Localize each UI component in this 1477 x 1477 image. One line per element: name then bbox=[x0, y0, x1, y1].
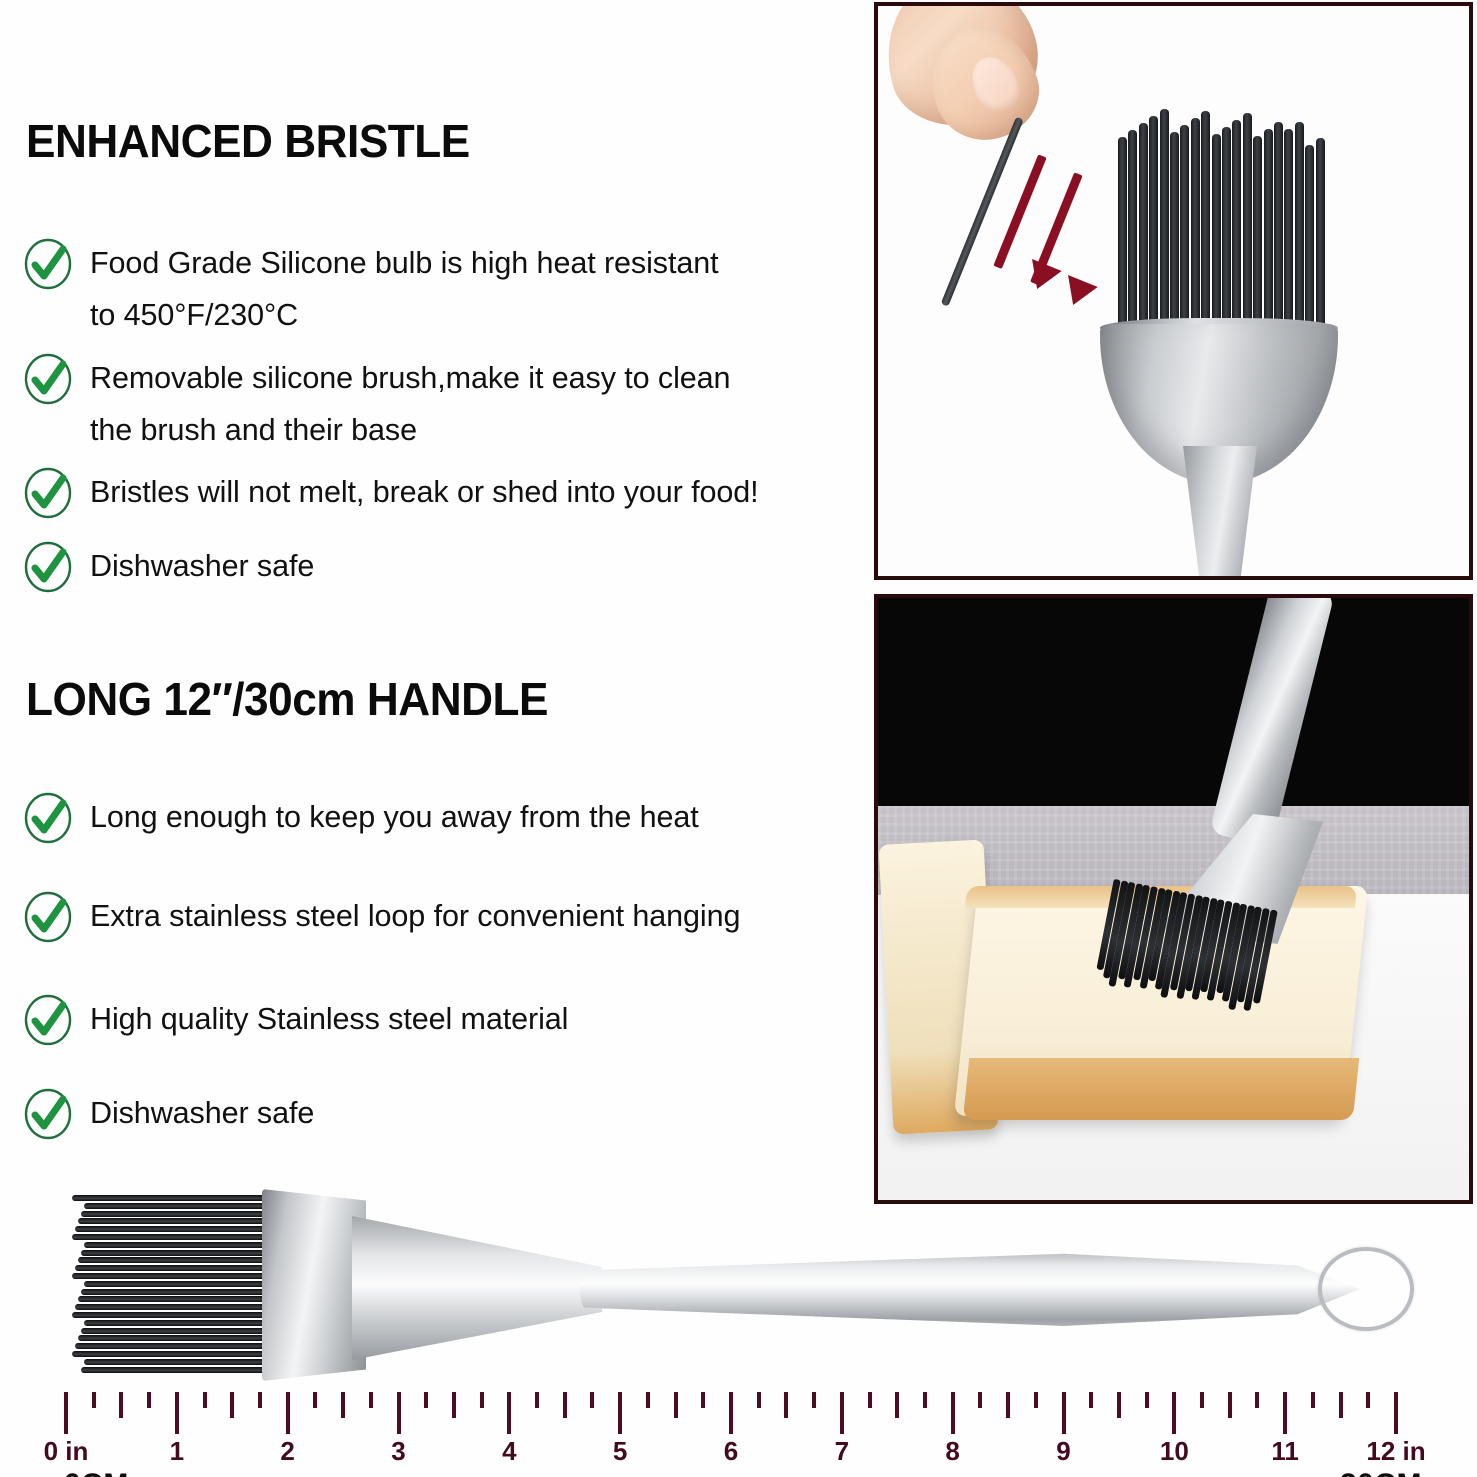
ruler-tick-minor bbox=[1145, 1392, 1149, 1408]
ruler-tick-minor bbox=[341, 1392, 345, 1418]
ruler-tick-minor bbox=[452, 1392, 456, 1418]
ruler-inch-label: 1 bbox=[170, 1436, 184, 1467]
feature-bullet-text: Removable silicone brush,make it easy to… bbox=[90, 352, 730, 456]
bristle bbox=[75, 1304, 268, 1310]
bristle bbox=[1232, 120, 1241, 351]
bristle bbox=[1191, 118, 1200, 351]
bristle bbox=[1243, 113, 1252, 351]
pulled-bristle bbox=[941, 117, 1024, 307]
ruler-tick-minor bbox=[1117, 1392, 1121, 1418]
ruler-tick-minor bbox=[369, 1392, 373, 1408]
ruler-tick-major bbox=[618, 1392, 622, 1434]
ruler-inch-label: 5 bbox=[613, 1436, 627, 1467]
ruler-tick-major bbox=[1394, 1392, 1398, 1434]
ruler-tick-major bbox=[64, 1392, 68, 1434]
full-brush-photo bbox=[0, 1185, 1477, 1390]
bristle bbox=[84, 1203, 268, 1209]
bristle bbox=[1128, 130, 1137, 351]
bristle bbox=[75, 1265, 268, 1271]
ruler-inch-label: 10 bbox=[1160, 1436, 1189, 1467]
feature-bullet-text: Food Grade Silicone bulb is high heat re… bbox=[90, 237, 719, 341]
bristle bbox=[84, 1242, 268, 1248]
bristle bbox=[1295, 122, 1304, 351]
bristle bbox=[72, 1273, 268, 1279]
feature-bullet: Removable silicone brush,make it easy to… bbox=[22, 352, 740, 456]
photo-scene bbox=[878, 6, 1469, 576]
feature-bullet: High quality Stainless steel material bbox=[22, 993, 576, 1046]
product-ferrule bbox=[262, 1189, 366, 1381]
ruler-tick-minor bbox=[646, 1392, 650, 1408]
ruler-tick-minor bbox=[1366, 1392, 1370, 1408]
feature-bullet: Dishwasher safe bbox=[22, 1087, 318, 1140]
ruler-tick-minor bbox=[701, 1392, 705, 1408]
bristle bbox=[81, 1367, 268, 1373]
ruler-inch-label: 7 bbox=[835, 1436, 849, 1467]
ruler-inch-label: 3 bbox=[391, 1436, 405, 1467]
bristle bbox=[81, 1289, 268, 1295]
bristle-removal-photo bbox=[874, 2, 1473, 580]
bristle bbox=[81, 1250, 268, 1256]
ruler-tick-minor bbox=[1200, 1392, 1204, 1408]
ruler-inch-label: 2 bbox=[280, 1436, 294, 1467]
bristle bbox=[75, 1226, 268, 1232]
product-bristles bbox=[72, 1195, 268, 1375]
feature-bullet: Bristles will not melt, break or shed in… bbox=[22, 466, 769, 519]
ruler-inch-label: 4 bbox=[502, 1436, 516, 1467]
ruler-inch-label: 8 bbox=[945, 1436, 959, 1467]
ruler-cm-end-label: 30CM bbox=[1340, 1468, 1422, 1477]
bristle bbox=[72, 1195, 268, 1201]
check-circle-icon bbox=[22, 792, 74, 844]
ruler-tick-minor bbox=[1339, 1392, 1343, 1418]
ruler-inch-label: 11 bbox=[1271, 1436, 1299, 1467]
ruler-tick-minor bbox=[1311, 1392, 1315, 1408]
bristle bbox=[1149, 116, 1158, 351]
ruler-cm-start-label: 0CM bbox=[64, 1468, 129, 1477]
ruler-tick-minor bbox=[258, 1392, 262, 1408]
check-circle-icon bbox=[22, 891, 74, 943]
direction-arrow-head-icon bbox=[1058, 275, 1097, 311]
buttering-bread-photo bbox=[874, 594, 1473, 1204]
bristle bbox=[81, 1328, 268, 1334]
ruler-tick-major bbox=[175, 1392, 179, 1434]
ruler-tick-major bbox=[1062, 1392, 1066, 1434]
ruler-tick-minor bbox=[313, 1392, 317, 1408]
feature-bullet-text: Long enough to keep you away from the he… bbox=[90, 791, 699, 843]
product-infographic: ENHANCED BRISTLE Food Grade Silicone bul… bbox=[0, 0, 1477, 1477]
ruler-tick-minor bbox=[923, 1392, 927, 1408]
steel-stem bbox=[1178, 446, 1262, 580]
ruler-inch-label: 9 bbox=[1056, 1436, 1070, 1467]
ruler-tick-minor bbox=[978, 1392, 982, 1408]
ruler-tick-major bbox=[1283, 1392, 1287, 1434]
bristle bbox=[1274, 122, 1283, 351]
bristle bbox=[72, 1351, 268, 1357]
bread-crust bbox=[963, 1058, 1360, 1120]
ruler-tick-minor bbox=[480, 1392, 484, 1408]
bristle bbox=[84, 1320, 268, 1326]
ruler-tick-major bbox=[507, 1392, 511, 1434]
bristle bbox=[75, 1343, 268, 1349]
bristle bbox=[84, 1281, 268, 1287]
silicone-bristle-bundle bbox=[1118, 106, 1330, 351]
bristle bbox=[81, 1211, 268, 1217]
bristle bbox=[1201, 111, 1210, 351]
ruler-tick-minor bbox=[895, 1392, 899, 1418]
bristle bbox=[78, 1335, 268, 1341]
ruler-tick-minor bbox=[424, 1392, 428, 1408]
product-handle bbox=[580, 1247, 1360, 1331]
bristle bbox=[72, 1234, 268, 1240]
ruler-inch-label: 0 in bbox=[44, 1436, 89, 1467]
ruler-tick-major bbox=[951, 1392, 955, 1434]
ruler-tick-minor bbox=[230, 1392, 234, 1418]
section-heading-enhanced-bristle: ENHANCED BRISTLE bbox=[26, 114, 470, 168]
feature-bullet-text: Dishwasher safe bbox=[90, 1087, 314, 1139]
bristle bbox=[78, 1257, 268, 1263]
ruler-tick-minor bbox=[1006, 1392, 1010, 1418]
ruler-tick-minor bbox=[812, 1392, 816, 1408]
ruler-tick-minor bbox=[1228, 1392, 1232, 1418]
ruler-tick-major bbox=[840, 1392, 844, 1434]
ruler-inch-label: 12 in bbox=[1366, 1436, 1425, 1467]
feature-bullet-text: Dishwasher safe bbox=[90, 540, 314, 592]
ruler-tick-minor bbox=[784, 1392, 788, 1418]
feature-bullet-text: Bristles will not melt, break or shed in… bbox=[90, 466, 759, 518]
ruler-tick-minor bbox=[868, 1392, 872, 1408]
ruler-tick-minor bbox=[674, 1392, 678, 1418]
bristle bbox=[1284, 129, 1293, 351]
ruler-tick-major bbox=[1172, 1392, 1176, 1434]
check-circle-icon bbox=[22, 353, 74, 405]
hanging-loop bbox=[1318, 1247, 1414, 1331]
ruler-tick-minor bbox=[757, 1392, 761, 1408]
ruler-tick-major bbox=[397, 1392, 401, 1434]
check-circle-icon bbox=[22, 994, 74, 1046]
ruler-inch-label: 6 bbox=[724, 1436, 738, 1467]
feature-bullet: Long enough to keep you away from the he… bbox=[22, 791, 708, 844]
bristle bbox=[78, 1296, 268, 1302]
ruler-tick-minor bbox=[563, 1392, 567, 1418]
bristle bbox=[78, 1218, 268, 1224]
ruler-tick-minor bbox=[147, 1392, 151, 1408]
check-circle-icon bbox=[22, 238, 74, 290]
ruler-tick-major bbox=[286, 1392, 290, 1434]
product-neck bbox=[352, 1213, 602, 1363]
ruler-tick-major bbox=[729, 1392, 733, 1434]
ruler-tick-minor bbox=[1255, 1392, 1259, 1408]
feature-bullet-text: High quality Stainless steel material bbox=[90, 993, 568, 1045]
feature-text-column: ENHANCED BRISTLE Food Grade Silicone bul… bbox=[0, 0, 865, 1180]
ruler-tick-minor bbox=[119, 1392, 123, 1418]
ruler-tick-minor bbox=[1034, 1392, 1038, 1408]
ruler-tick-minor bbox=[203, 1392, 207, 1408]
bristle bbox=[84, 1359, 268, 1365]
check-circle-icon bbox=[22, 1088, 74, 1140]
bristle bbox=[1118, 137, 1127, 351]
bristle bbox=[72, 1312, 268, 1318]
bristle bbox=[1139, 123, 1148, 351]
feature-bullet: Food Grade Silicone bulb is high heat re… bbox=[22, 237, 728, 341]
ruler-tick-minor bbox=[1089, 1392, 1093, 1408]
ruler-tick-minor bbox=[92, 1392, 96, 1408]
measurement-ruler: 0CM 30CM 0 in123456789101112 in bbox=[0, 1392, 1477, 1477]
check-circle-icon bbox=[22, 541, 74, 593]
photo-scene bbox=[878, 598, 1469, 1200]
ruler-tick-minor bbox=[535, 1392, 539, 1408]
check-circle-icon bbox=[22, 467, 74, 519]
bristle bbox=[1160, 109, 1169, 351]
feature-bullet: Extra stainless steel loop for convenien… bbox=[22, 890, 750, 943]
ruler-tick-minor bbox=[590, 1392, 594, 1408]
bristle bbox=[1316, 138, 1325, 351]
feature-bullet: Dishwasher safe bbox=[22, 540, 318, 593]
section-heading-long-handle: LONG 12″/30cm HANDLE bbox=[26, 672, 548, 726]
feature-bullet-text: Extra stainless steel loop for convenien… bbox=[90, 890, 740, 942]
